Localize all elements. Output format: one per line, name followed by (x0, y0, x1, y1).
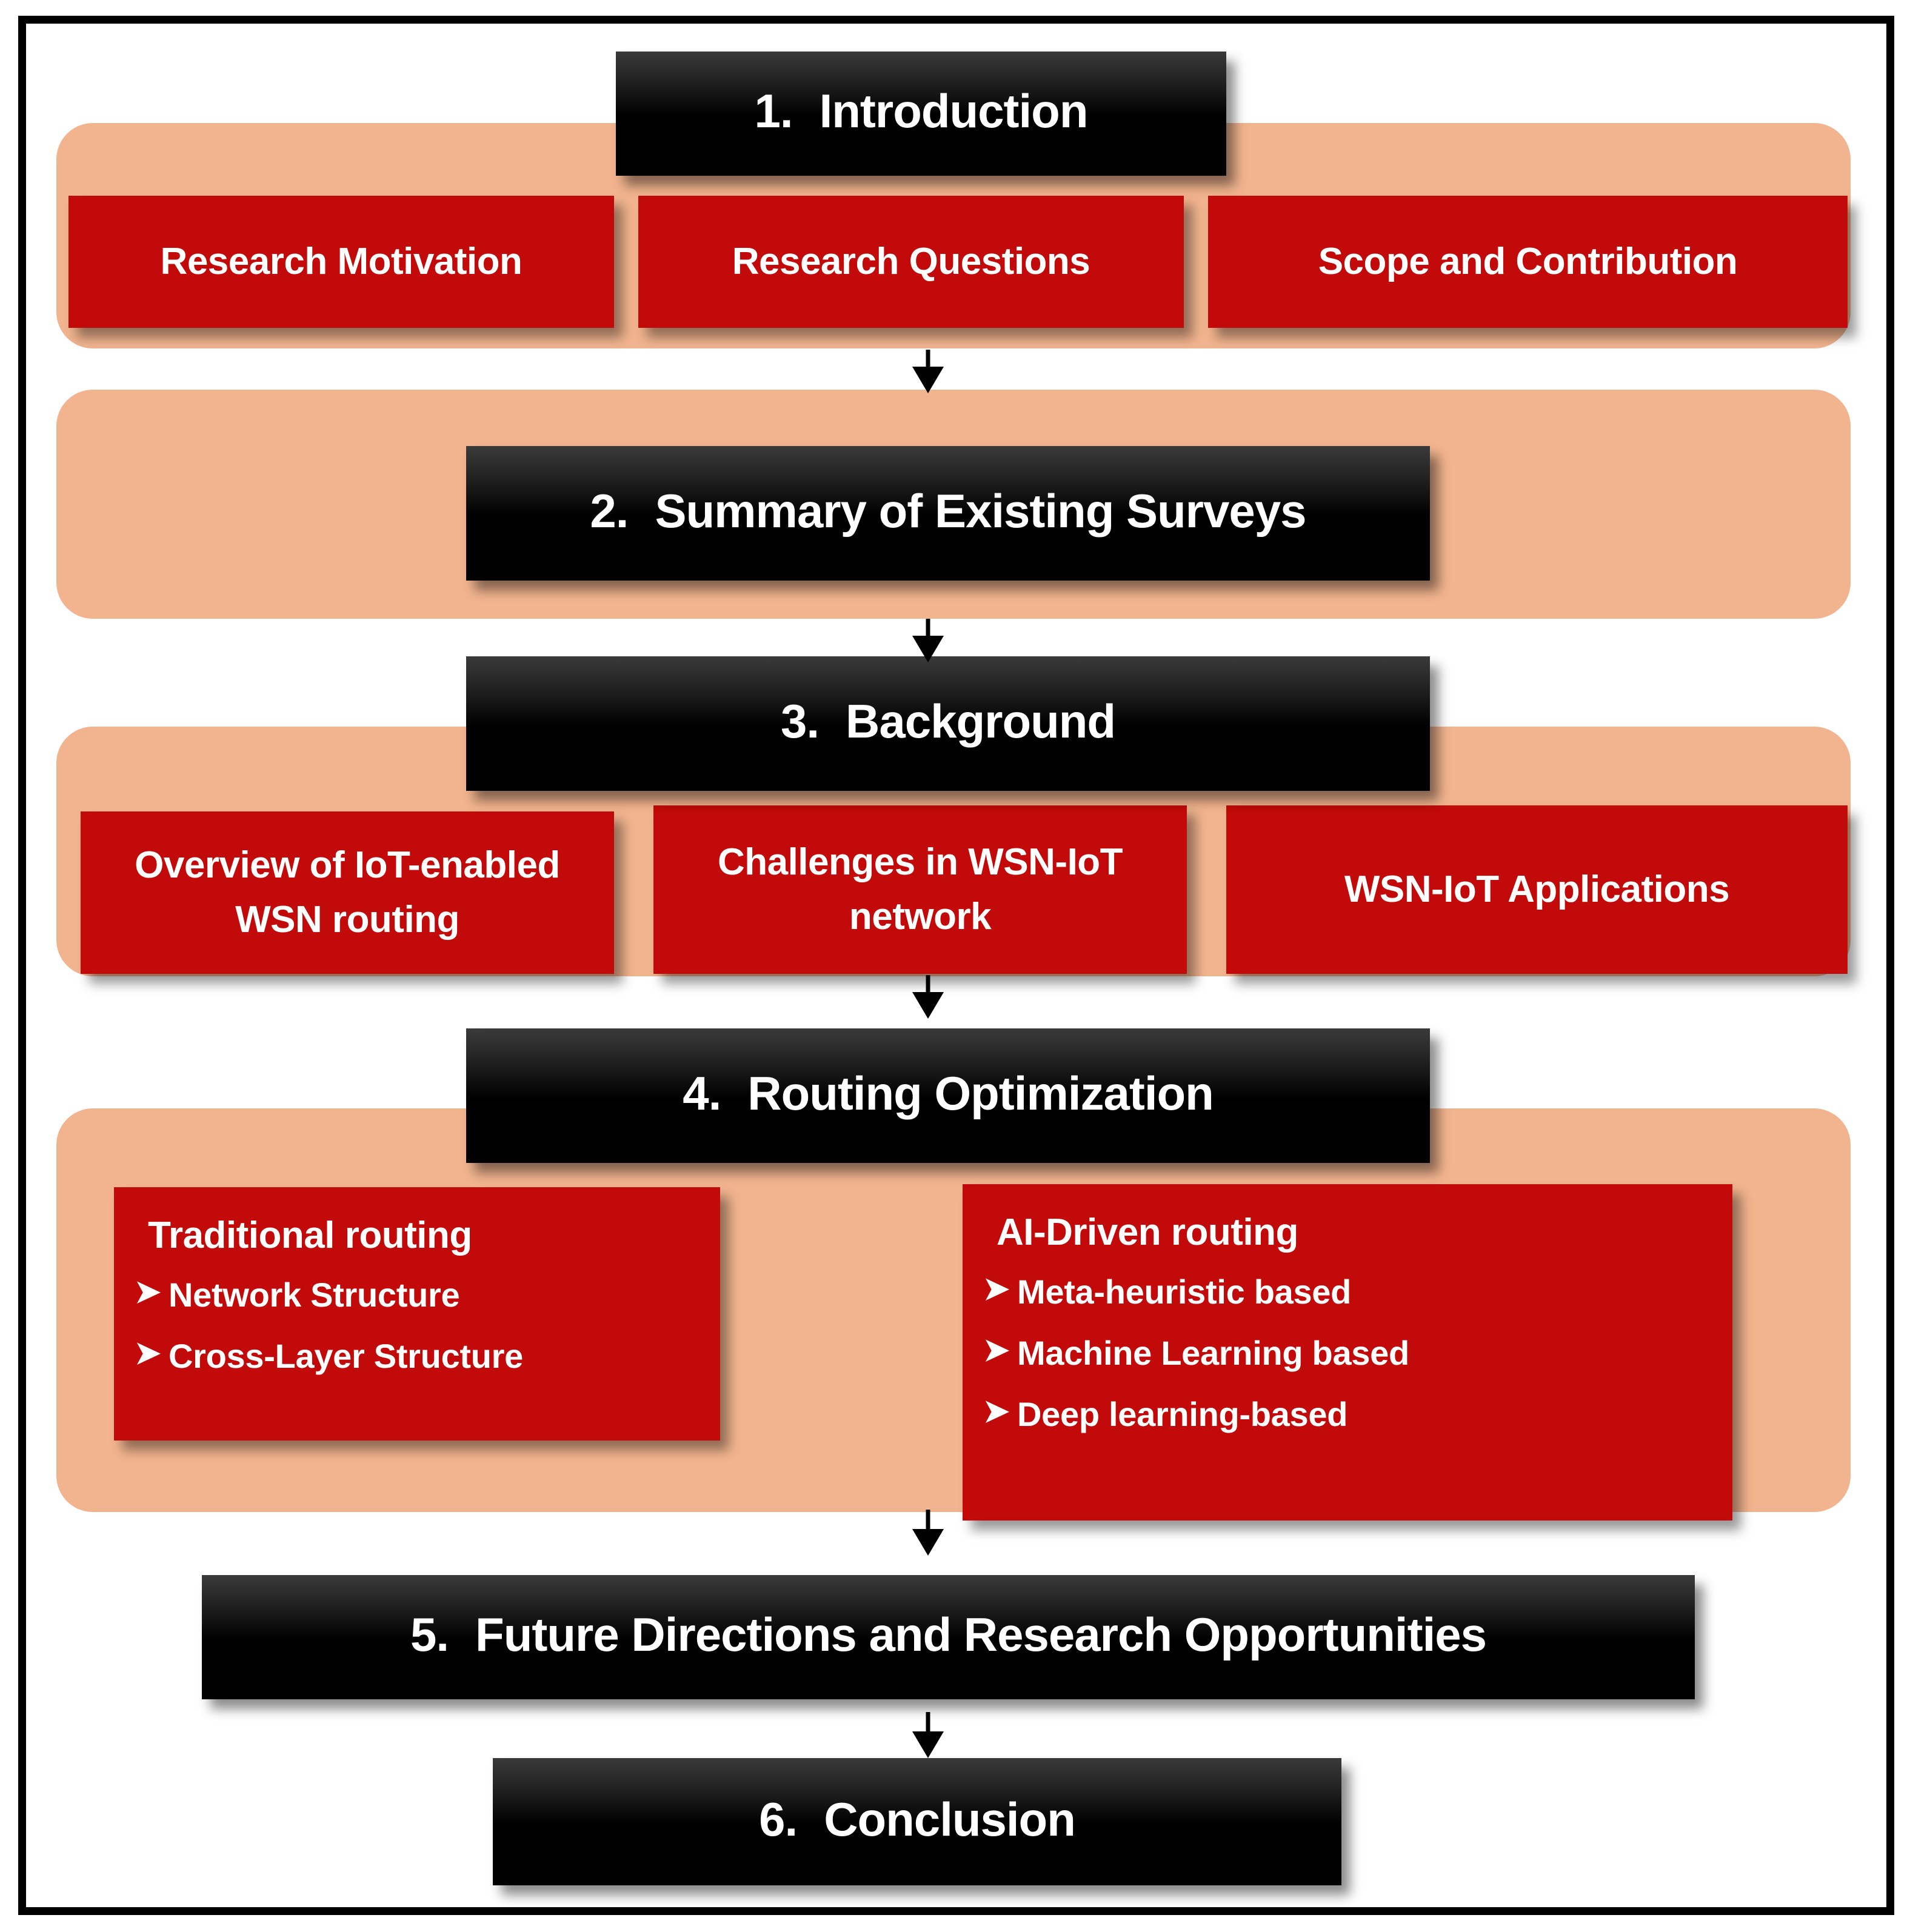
traditional-routing-list: ➤ Network Structure ➤ Cross-Layer Struct… (135, 1275, 700, 1376)
list-item[interactable]: ➤ Cross-Layer Structure (135, 1336, 700, 1376)
diagram-frame: 1. Introduction Research Motivation Rese… (18, 16, 1894, 1915)
list-item-label: Network Structure (169, 1275, 459, 1314)
box-traditional-routing[interactable]: Traditional routing ➤ Network Structure … (114, 1187, 720, 1441)
list-item[interactable]: ➤ Meta-heuristic based (983, 1272, 1712, 1311)
box-research-questions[interactable]: Research Questions (638, 196, 1184, 328)
section-4-header[interactable]: 4. Routing Optimization (466, 1028, 1430, 1163)
ai-driven-routing-heading: AI-Driven routing (997, 1211, 1712, 1254)
flowchart-page: 1. Introduction Research Motivation Rese… (0, 0, 1910, 1932)
section-5-number: 5. (410, 1607, 449, 1662)
section-2-number: 2. (590, 484, 628, 539)
section-4-number: 4. (683, 1066, 721, 1121)
list-item-label: Deep learning-based (1017, 1394, 1347, 1434)
list-item[interactable]: ➤ Machine Learning based (983, 1333, 1712, 1373)
section-6-header[interactable]: 6. Conclusion (493, 1758, 1341, 1885)
arrow-bullet-icon: ➤ (135, 1337, 169, 1369)
section-2-title: Summary of Existing Surveys (655, 484, 1306, 539)
list-item-label: Cross-Layer Structure (169, 1336, 523, 1376)
section-3-number: 3. (781, 694, 819, 749)
box-label: Challenges in WSN-IoT network (666, 835, 1175, 944)
section-5-title: Future Directions and Research Opportuni… (475, 1607, 1486, 1662)
list-item[interactable]: ➤ Network Structure (135, 1275, 700, 1314)
arrow-bullet-icon: ➤ (983, 1273, 1017, 1305)
box-wsn-iot-applications[interactable]: WSN-IoT Applications (1226, 805, 1848, 974)
section-3-title: Background (846, 694, 1115, 749)
box-challenges-wsn-iot-network[interactable]: Challenges in WSN-IoT network (653, 805, 1187, 974)
box-label: Scope and Contribution (1318, 235, 1738, 289)
ai-driven-routing-list: ➤ Meta-heuristic based ➤ Machine Learnin… (983, 1272, 1712, 1434)
section-1-number: 1. (755, 84, 793, 139)
section-2-header[interactable]: 2. Summary of Existing Surveys (466, 446, 1430, 581)
arrow-bullet-icon: ➤ (983, 1334, 1017, 1366)
box-label: Overview of IoT-enabled WSN routing (93, 838, 602, 947)
arrow-section1-to-section2 (912, 350, 944, 393)
box-ai-driven-routing[interactable]: AI-Driven routing ➤ Meta-heuristic based… (963, 1184, 1732, 1521)
arrow-section5-to-section6 (912, 1712, 944, 1758)
section-6-title: Conclusion (824, 1792, 1075, 1847)
section-4-title: Routing Optimization (747, 1066, 1214, 1121)
arrow-bullet-icon: ➤ (135, 1276, 169, 1308)
list-item[interactable]: ➤ Deep learning-based (983, 1394, 1712, 1434)
box-label: WSN-IoT Applications (1344, 862, 1729, 917)
box-overview-iot-enabled-wsn-routing[interactable]: Overview of IoT-enabled WSN routing (81, 811, 614, 974)
list-item-label: Meta-heuristic based (1017, 1272, 1351, 1311)
arrow-bullet-icon: ➤ (983, 1396, 1017, 1427)
box-research-motivation[interactable]: Research Motivation (68, 196, 614, 328)
section-6-number: 6. (759, 1792, 797, 1847)
box-label: Research Motivation (161, 235, 523, 289)
section-1-header[interactable]: 1. Introduction (616, 52, 1226, 176)
box-scope-and-contribution[interactable]: Scope and Contribution (1208, 196, 1848, 328)
arrow-section4-to-section5 (912, 1510, 944, 1556)
section-5-header[interactable]: 5. Future Directions and Research Opport… (202, 1575, 1695, 1699)
list-item-label: Machine Learning based (1017, 1333, 1409, 1373)
traditional-routing-heading: Traditional routing (148, 1214, 700, 1257)
section-1-title: Introduction (820, 84, 1088, 139)
box-label: Research Questions (732, 235, 1090, 289)
arrow-section2-to-section3 (912, 619, 944, 662)
arrow-section3-to-section4 (912, 975, 944, 1019)
section-3-header[interactable]: 3. Background (466, 656, 1430, 791)
